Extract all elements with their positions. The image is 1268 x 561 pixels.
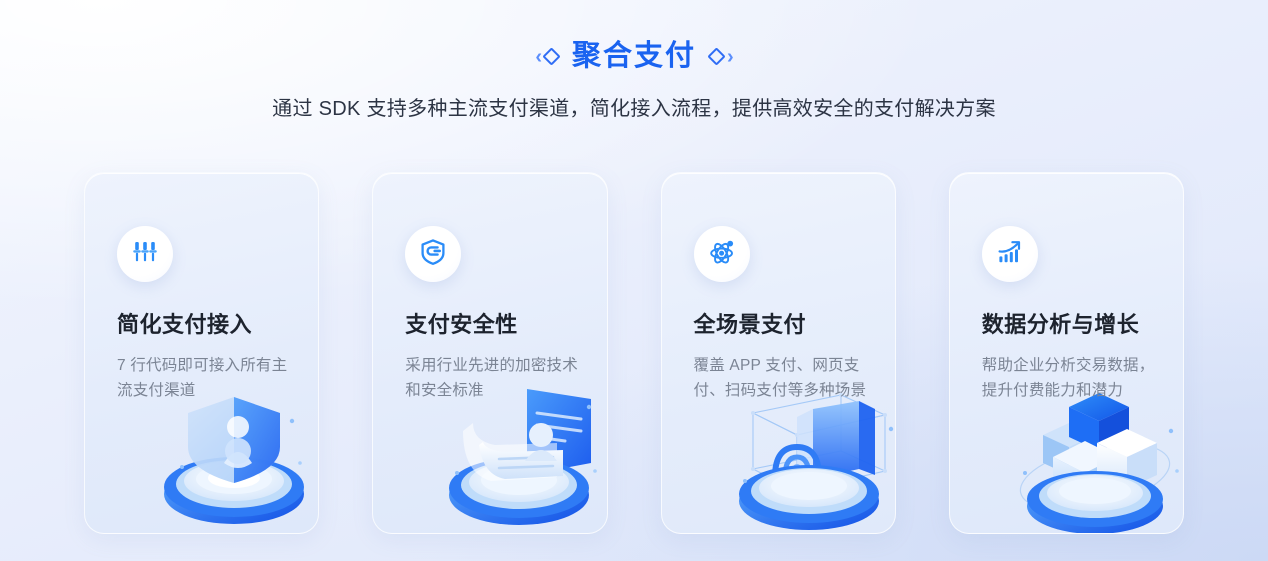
page-subtitle: 通过 SDK 支持多种主流支付渠道，简化接入流程，提供高效安全的支付解决方案 (0, 92, 1268, 121)
title-right-decoration-icon: › (710, 47, 733, 67)
card-description: 采用行业先进的加密技术和安全标准 (405, 353, 580, 403)
bar-chart-growth-icon (996, 238, 1024, 271)
feature-card-payment-security[interactable]: 支付安全性 采用行业先进的加密技术和安全标准 (372, 172, 607, 534)
page-header: ‹ 聚合支付 › 通过 SDK 支持多种主流支付渠道，简化接入流程，提供高效安全… (0, 0, 1268, 121)
feature-card-omni-scenario-payment[interactable]: 全场景支付 覆盖 APP 支付、网页支付、扫码支付等多种场景 (661, 172, 896, 534)
card-description: 7 行代码即可接入所有主流支付渠道 (117, 353, 292, 403)
atom-icon (708, 238, 736, 271)
card-title: 简化支付接入 (117, 307, 318, 339)
card-icon-badge (982, 226, 1038, 282)
feature-card-list: 简化支付接入 7 行代码即可接入所有主流支付渠道 (84, 172, 1184, 534)
title-left-decoration-icon: ‹ (535, 47, 558, 67)
page-title-row: ‹ 聚合支付 › (0, 42, 1268, 71)
card-title: 数据分析与增长 (982, 307, 1183, 339)
card-description: 覆盖 APP 支付、网页支付、扫码支付等多种场景 (694, 353, 880, 403)
feature-card-simplified-access[interactable]: 简化支付接入 7 行代码即可接入所有主流支付渠道 (84, 172, 319, 534)
feature-card-data-analytics-growth[interactable]: 数据分析与增长 帮助企业分析交易数据，提升付费能力和潜力 (949, 172, 1184, 534)
card-description: 帮助企业分析交易数据，提升付费能力和潜力 (982, 353, 1168, 403)
card-icon-badge (405, 226, 461, 282)
card-icon-badge (117, 226, 173, 282)
card-icon-badge (694, 226, 750, 282)
shield-arrow-icon (419, 238, 447, 271)
card-title: 全场景支付 (694, 307, 895, 339)
sliders-icon (131, 238, 159, 271)
page-title: 聚合支付 (572, 42, 696, 71)
card-title: 支付安全性 (405, 307, 606, 339)
